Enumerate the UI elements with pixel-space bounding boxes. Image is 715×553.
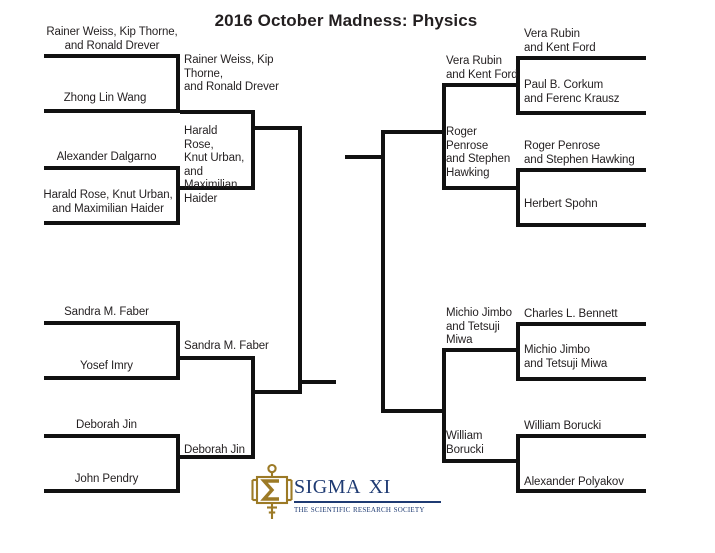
bracket-connector-left-semi xyxy=(298,126,302,394)
bracket-line-r2-bottom xyxy=(516,223,646,227)
competitor-l3-top: Sandra M. Faber xyxy=(33,306,180,320)
bracket-line-r3-top xyxy=(516,322,646,326)
bracket-line-right-finalist xyxy=(345,155,383,159)
bracket-line-li1 xyxy=(180,110,255,114)
sigma-xi-logo: Sigma Xi The Scientific Research Society xyxy=(250,461,442,523)
bracket-line-ri1 xyxy=(442,83,520,87)
bracket-line-l4-bottom xyxy=(44,489,180,493)
bracket-line-r2-top xyxy=(516,168,646,172)
bracket-connector-li-upper xyxy=(251,110,255,190)
page-title: 2016 October Madness: Physics xyxy=(196,11,496,31)
sigma-xi-rule xyxy=(294,501,441,503)
competitor-ri1: Vera Rubin and Kent Ford xyxy=(446,55,520,82)
sigma-xi-emblem-icon xyxy=(250,463,294,521)
bracket-line-r4-top xyxy=(516,434,646,438)
bracket-line-l3-top xyxy=(44,321,180,325)
competitor-li2: Harald Rose, Knut Urban, and Maximilian … xyxy=(184,125,246,206)
bracket-line-l3-bottom xyxy=(44,376,180,380)
competitor-ri4: William Borucki xyxy=(446,430,520,457)
bracket-line-left-finalist xyxy=(298,380,336,384)
competitor-li3: Sandra M. Faber xyxy=(184,340,314,354)
bracket-line-r3-bottom xyxy=(516,377,646,381)
competitor-li4: Deborah Jin xyxy=(184,444,314,458)
bracket-line-left-semi-top xyxy=(251,126,302,130)
bracket-line-right-semi-top xyxy=(381,130,445,134)
sigma-xi-name: Sigma Xi xyxy=(294,469,442,499)
competitor-l1-bottom: Zhong Lin Wang xyxy=(30,92,180,106)
competitor-ri2: Roger Penrose and Stephen Hawking xyxy=(446,126,520,180)
bracket-line-ri2 xyxy=(442,186,520,190)
bracket-connector-right-semi xyxy=(381,130,385,413)
competitor-r3-top: Charles L. Bennett xyxy=(524,308,674,322)
competitor-l4-top: Deborah Jin xyxy=(33,419,180,433)
sigma-xi-tagline: The Scientific Research Society xyxy=(294,504,442,516)
competitor-r1-bottom: Paul B. Corkum and Ferenc Krausz xyxy=(524,79,674,106)
competitor-r2-bottom: Herbert Spohn xyxy=(524,198,674,212)
bracket-canvas: 2016 October Madness: Physics Rainer Wei… xyxy=(0,0,715,553)
bracket-line-r1-bottom xyxy=(516,111,646,115)
competitor-r2-top: Roger Penrose and Stephen Hawking xyxy=(524,140,684,167)
competitor-ri3: Michio Jimbo and Tetsuji Miwa xyxy=(446,307,520,348)
competitor-l2-top: Alexander Dalgarno xyxy=(33,151,180,165)
competitor-r3-bottom: Michio Jimbo and Tetsuji Miwa xyxy=(524,344,674,371)
competitor-l2-bottom: Harald Rose, Knut Urban, and Maximilian … xyxy=(33,189,183,216)
competitor-r4-bottom: Alexander Polyakov xyxy=(524,476,674,490)
bracket-line-r1-top xyxy=(516,56,646,60)
bracket-line-ri4 xyxy=(442,459,520,463)
bracket-line-l2-bottom xyxy=(44,221,180,225)
bracket-line-l1-bottom xyxy=(44,109,180,113)
bracket-line-ri3 xyxy=(442,348,520,352)
competitor-li1: Rainer Weiss, Kip Thorne, and Ronald Dre… xyxy=(184,54,314,95)
bracket-line-r4-bottom xyxy=(516,489,646,493)
competitor-l3-bottom: Yosef Imry xyxy=(33,360,180,374)
bracket-line-li3 xyxy=(180,356,255,360)
bracket-line-left-semi-bottom xyxy=(251,390,302,394)
sigma-xi-wordmark: Sigma Xi The Scientific Research Society xyxy=(294,469,442,516)
competitor-l1-top: Rainer Weiss, Kip Thorne, and Ronald Dre… xyxy=(30,26,194,53)
competitor-l4-bottom: John Pendry xyxy=(33,473,180,487)
competitor-r1-top: Vera Rubin and Kent Ford xyxy=(524,28,674,55)
bracket-line-l4-top xyxy=(44,434,180,438)
bracket-line-l2-top xyxy=(44,166,180,170)
bracket-line-right-semi-bottom xyxy=(381,409,445,413)
competitor-r4-top: William Borucki xyxy=(524,420,674,434)
bracket-line-l1-top xyxy=(44,54,180,58)
